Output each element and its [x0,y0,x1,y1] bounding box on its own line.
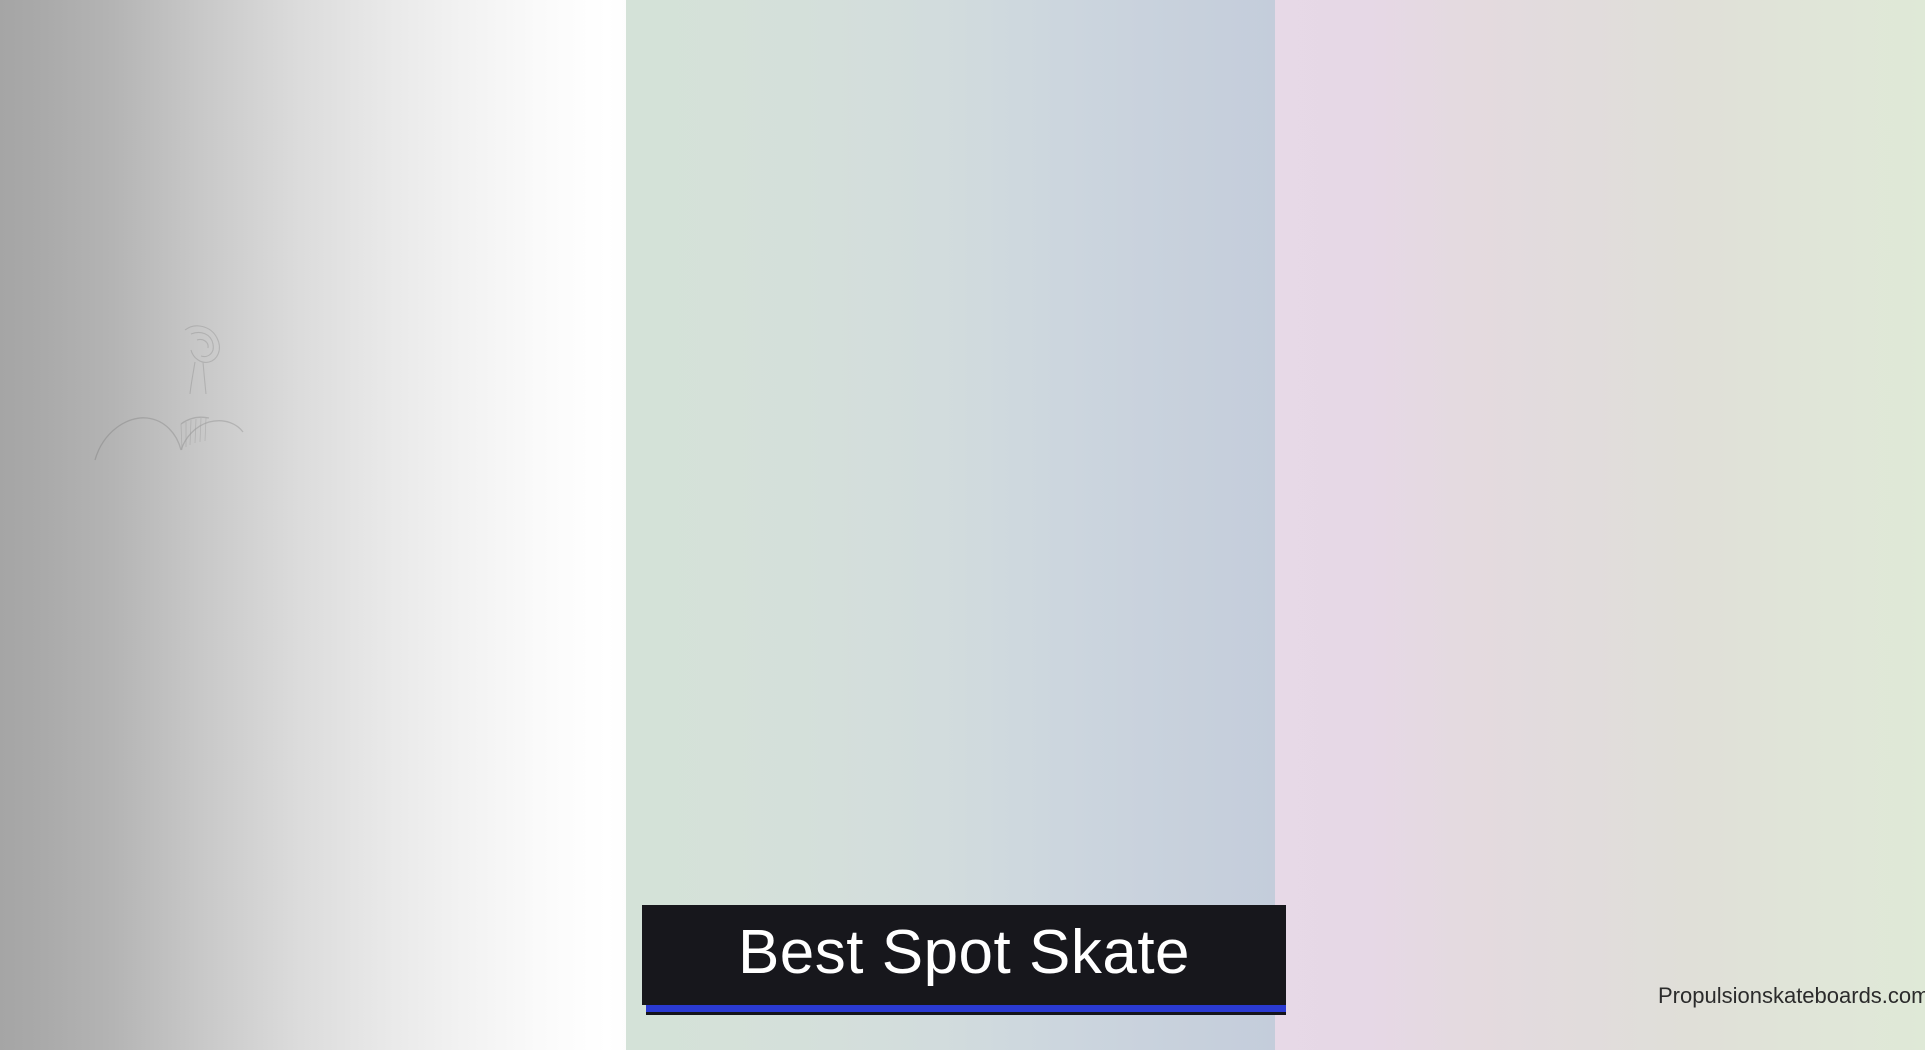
title-banner: Best Spot Skate [642,905,1286,1005]
site-watermark: Propulsionskateboards.com [1658,983,1925,1009]
middle-panel: BONT [626,0,1275,1050]
left-panel [0,0,626,1050]
title-underline-shadow [646,1012,1286,1015]
page-title: Best Spot Skate [738,922,1190,988]
right-panel: VO2 S 90 [1275,0,1925,1050]
title-underline [646,1005,1286,1012]
ghost-skate-icon [85,300,285,500]
comparison-image-canvas: BONT [0,0,1925,1050]
